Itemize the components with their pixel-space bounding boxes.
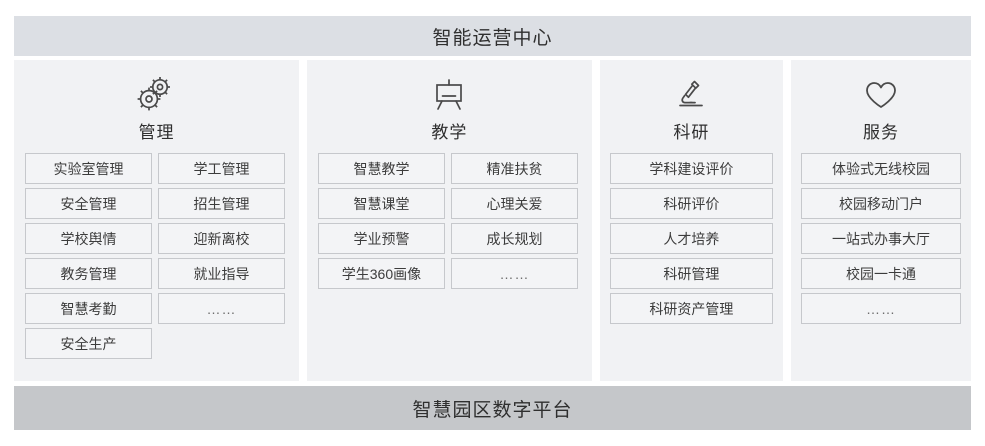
header-bar: 智能运营中心 [14,16,971,56]
column-title-service: 服务 [863,118,899,143]
microscope-icon [673,74,709,116]
tag-item[interactable]: 教务管理 [25,258,152,289]
tag-item[interactable]: 心理关爱 [451,188,578,219]
column-manage: 管理 实验室管理 学工管理 安全管理 招生管理 学校舆情 迎新离校 教务管理 就… [14,60,299,381]
tag-item-more[interactable]: …… [158,293,285,324]
footer-bar: 智慧园区数字平台 [14,386,971,430]
operations-center-board: 智能运营中心 [14,16,971,430]
tag-list-manage: 实验室管理 学工管理 安全管理 招生管理 学校舆情 迎新离校 教务管理 就业指导… [14,153,299,359]
tag-item[interactable]: 实验室管理 [25,153,152,184]
tag-item[interactable]: 一站式办事大厅 [801,223,961,254]
tag-item[interactable]: 人才培养 [610,223,773,254]
tag-item[interactable]: 就业指导 [158,258,285,289]
tag-item[interactable]: 智慧教学 [318,153,445,184]
column-title-teach: 教学 [431,118,467,143]
tag-item[interactable]: 迎新离校 [158,223,285,254]
tag-item-more[interactable]: …… [801,293,961,324]
tag-item[interactable]: 学生360画像 [318,258,445,289]
tag-item[interactable]: 学校舆情 [25,223,152,254]
tag-item[interactable]: 学工管理 [158,153,285,184]
tag-item[interactable]: 智慧考勤 [25,293,152,324]
tag-item[interactable]: 科研资产管理 [610,293,773,324]
tag-item[interactable]: 成长规划 [451,223,578,254]
category-columns: 管理 实验室管理 学工管理 安全管理 招生管理 学校舆情 迎新离校 教务管理 就… [14,60,971,381]
tag-list-research: 学科建设评价 科研评价 人才培养 科研管理 科研资产管理 [600,153,783,324]
tag-item[interactable]: 体验式无线校园 [801,153,961,184]
tag-item[interactable]: 精准扶贫 [451,153,578,184]
heart-icon [861,74,901,116]
tag-item[interactable]: 学业预警 [318,223,445,254]
column-teach: 教学 智慧教学 精准扶贫 智慧课堂 心理关爱 学业预警 成长规划 学生360画像… [307,60,592,381]
tag-item[interactable]: 智慧课堂 [318,188,445,219]
tag-item[interactable]: 学科建设评价 [610,153,773,184]
tag-item[interactable]: 校园移动门户 [801,188,961,219]
tag-item[interactable]: 科研评价 [610,188,773,219]
tag-item-more[interactable]: …… [451,258,578,289]
tag-item[interactable]: 招生管理 [158,188,285,219]
tag-item[interactable]: 安全管理 [25,188,152,219]
platform-title: 智慧园区数字平台 [412,395,572,422]
column-title-research: 科研 [673,118,709,143]
tag-item[interactable]: 科研管理 [610,258,773,289]
gears-icon [134,74,178,116]
column-service: 服务 体验式无线校园 校园移动门户 一站式办事大厅 校园一卡通 …… [791,60,971,381]
tag-list-teach: 智慧教学 精准扶贫 智慧课堂 心理关爱 学业预警 成长规划 学生360画像 …… [307,153,592,289]
whiteboard-icon [430,74,468,116]
tag-list-service: 体验式无线校园 校园移动门户 一站式办事大厅 校园一卡通 …… [791,153,971,324]
tag-item[interactable]: 安全生产 [25,328,152,359]
tag-item[interactable]: 校园一卡通 [801,258,961,289]
column-title-manage: 管理 [138,118,174,143]
page-title: 智能运营中心 [432,23,552,50]
column-research: 科研 学科建设评价 科研评价 人才培养 科研管理 科研资产管理 [600,60,783,381]
